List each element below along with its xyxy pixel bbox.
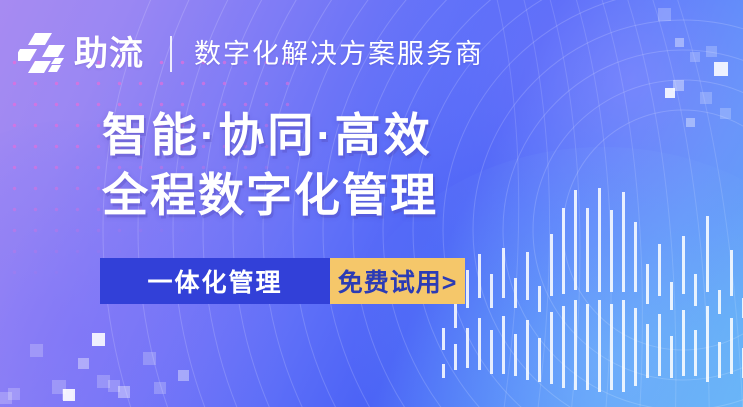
brand-header: 助流 数字化解决方案服务商: [18, 28, 484, 80]
integrated-management-button[interactable]: 一体化管理: [100, 258, 330, 304]
brand-name: 助流: [74, 37, 144, 71]
banner-content: 助流 数字化解决方案服务商 智能·协同·高效 全程数字化管理 一体化管理 免费试…: [0, 0, 743, 407]
header-divider: [170, 36, 172, 72]
brand-tagline: 数字化解决方案服务商: [194, 41, 484, 68]
free-trial-button[interactable]: 免费试用>: [330, 258, 465, 304]
promo-banner: 助流 数字化解决方案服务商 智能·协同·高效 全程数字化管理 一体化管理 免费试…: [0, 0, 743, 407]
headline-line-1: 智能·协同·高效: [102, 112, 433, 158]
cta-button-group: 一体化管理 免费试用>: [100, 258, 465, 304]
headline-line-2: 全程数字化管理: [102, 172, 438, 218]
lightning-bolt-blocks-icon: [18, 31, 68, 77]
